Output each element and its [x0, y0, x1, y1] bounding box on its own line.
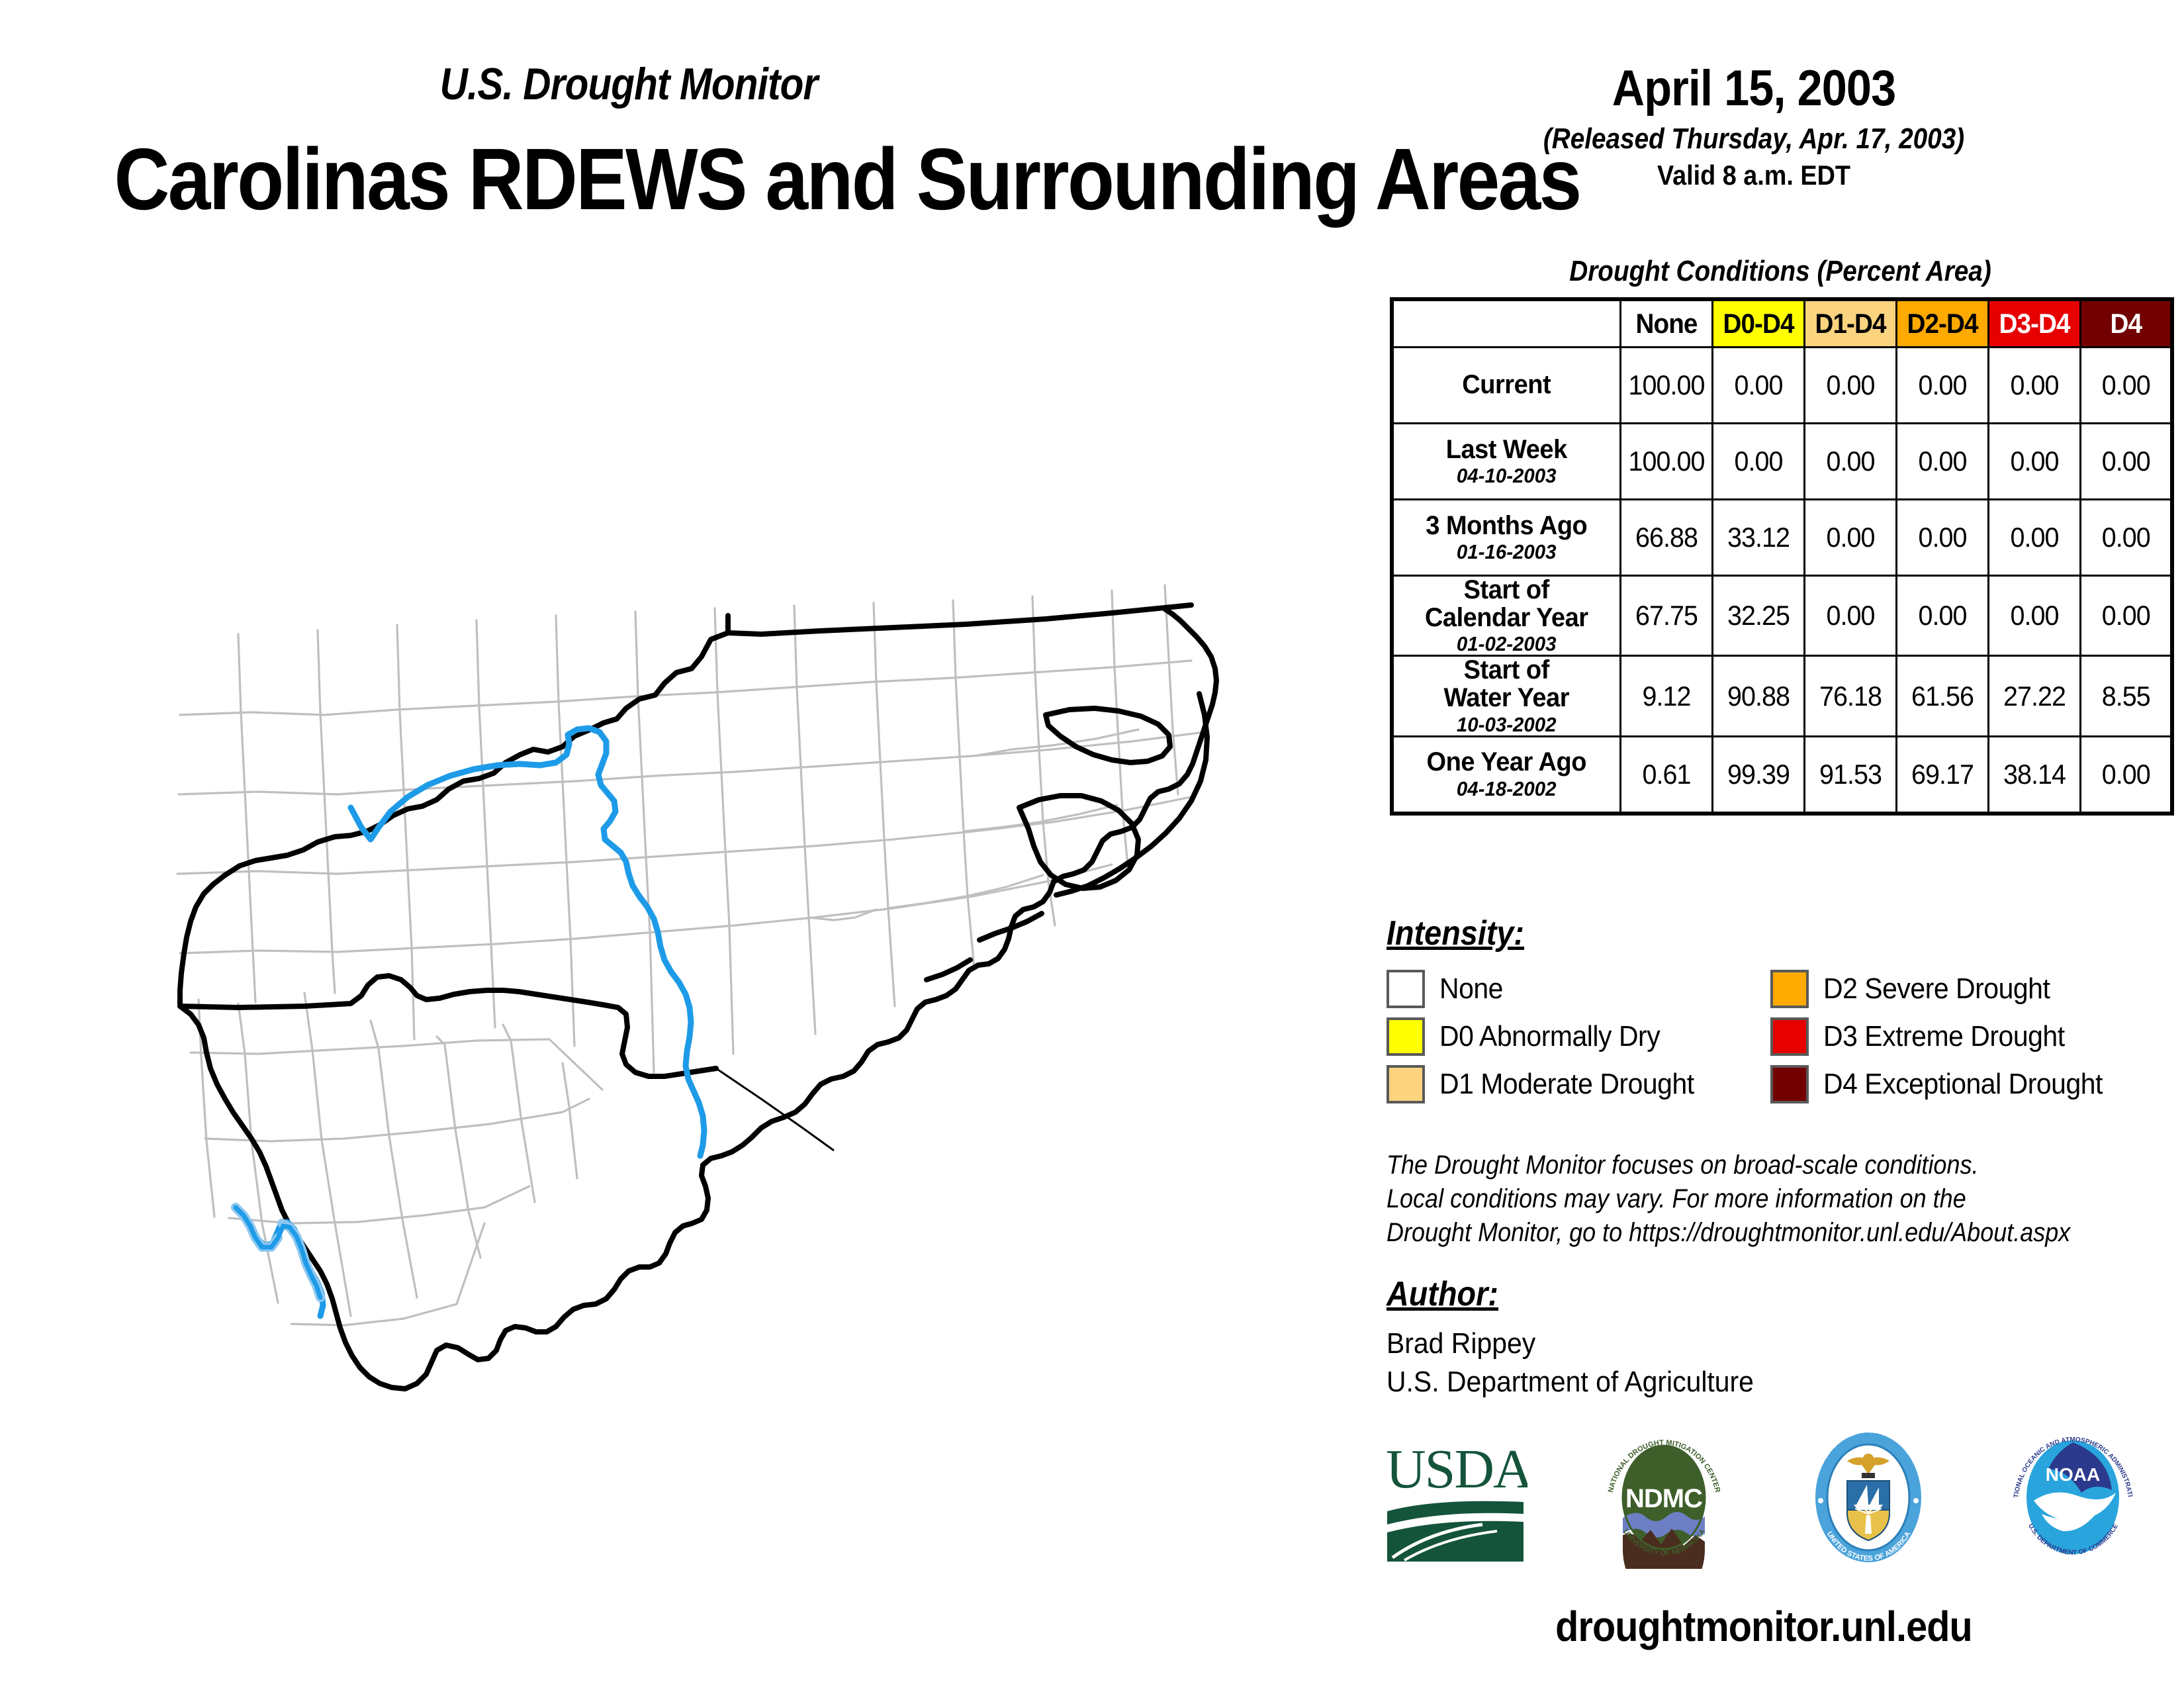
row-label-date: 04-18-2002 [1400, 778, 1614, 800]
author-block: Author: Brad Rippey U.S. Department of A… [1387, 1274, 2181, 1401]
row-label-1: Last Week04-10-2003 [1392, 424, 1620, 500]
cell-d4: 0.00 [2080, 500, 2172, 576]
cell-d4: 8.55 [2080, 656, 2172, 736]
ndmc-logo: NDMC NATIONAL DROUGHT MITIGATION CENTER … [1593, 1427, 1735, 1572]
release-date: (Released Thursday, Apr. 17, 2003) [1521, 122, 1987, 156]
table-body: Current100.000.000.000.000.000.00Last We… [1392, 348, 2172, 814]
legend-label: D1 Moderate Drought [1439, 1068, 1694, 1101]
svg-text:USDA: USDA [1386, 1438, 1527, 1500]
cell-d1d4: 0.00 [1804, 424, 1896, 500]
date-block: April 15, 2003 (Released Thursday, Apr. … [1489, 60, 2019, 191]
legend-label: D0 Abnormally Dry [1439, 1020, 1660, 1053]
cell-d1d4: 0.00 [1804, 348, 1896, 424]
disclaimer-block: The Drought Monitor focuses on broad-sca… [1387, 1149, 2181, 1250]
legend-item-2: D0 Abnormally Dry [1387, 1017, 1770, 1056]
row-label-name: Current [1400, 371, 1614, 399]
cell-d4: 0.00 [2080, 424, 2172, 500]
drought-conditions-table-block: Drought Conditions (Percent Area) None D… [1390, 255, 2171, 816]
cell-d4: 0.00 [2080, 736, 2172, 814]
legend-item-5: D4 Exceptional Drought [1770, 1065, 2181, 1103]
cell-d0d4: 0.00 [1712, 424, 1804, 500]
column-header-d0d4: D0-D4 [1712, 299, 1804, 348]
page-title: Carolinas RDEWS and Surrounding Areas [78, 129, 1615, 229]
valid-time: Valid 8 a.m. EDT [1516, 160, 1992, 191]
legend-swatch-icon [1770, 1017, 1809, 1056]
usda-logo: USDA [1383, 1432, 1527, 1568]
cell-d0d4: 0.00 [1712, 348, 1804, 424]
cell-none: 0.61 [1620, 736, 1712, 814]
disclaimer-line-2: Local conditions may vary. For more info… [1387, 1182, 2101, 1216]
column-header-d3d4: D3-D4 [1988, 299, 2080, 348]
column-header-none: None [1620, 299, 1712, 348]
author-name: Brad Rippey [1387, 1325, 2125, 1363]
legend-item-1: D2 Severe Drought [1770, 970, 2181, 1008]
cell-d3d4: 0.00 [1988, 500, 2080, 576]
row-label-date: 10-03-2002 [1400, 714, 1614, 735]
legend-label: D3 Extreme Drought [1823, 1020, 2065, 1053]
valid-date: April 15, 2003 [1516, 60, 1992, 117]
column-header-d2d4: D2-D4 [1896, 299, 1988, 348]
row-label-line-1: Start of [1400, 657, 1614, 684]
cell-d1d4: 91.53 [1804, 736, 1896, 814]
row-label-3: Start ofCalendar Year01-02-2003 [1392, 576, 1620, 656]
header-spacer [1392, 299, 1620, 348]
disclaimer-line-1: The Drought Monitor focuses on broad-sca… [1387, 1149, 2101, 1182]
legend-item-0: None [1387, 970, 1770, 1008]
svg-text:NOAA: NOAA [2046, 1464, 2100, 1485]
row-label-name: 3 Months Ago [1400, 512, 1614, 540]
logos-block: USDA NDMC NATIONAL DROUGHT MITIGATION CE… [1383, 1427, 2144, 1572]
cell-d4: 0.00 [2080, 348, 2172, 424]
author-organization: U.S. Department of Agriculture [1387, 1363, 2125, 1401]
legend-label: D4 Exceptional Drought [1823, 1068, 2103, 1101]
row-label-date: 04-10-2003 [1400, 465, 1614, 487]
legend-swatch-icon [1770, 1065, 1809, 1103]
row-label-name: One Year Ago [1400, 749, 1614, 776]
row-label-date: 01-02-2003 [1400, 633, 1614, 655]
row-label-line-2: Water Year [1400, 684, 1614, 712]
cell-none: 9.12 [1620, 656, 1712, 736]
table-row: One Year Ago04-18-20020.6199.3991.5369.1… [1392, 736, 2172, 814]
legend-swatch-icon [1770, 970, 1809, 1008]
cell-d0d4: 33.12 [1712, 500, 1804, 576]
legend-swatch-icon [1387, 970, 1425, 1008]
legend-item-4: D1 Moderate Drought [1387, 1065, 1770, 1103]
noaa-logo: NOAA NATIONAL OCEANIC AND ATMOSPHERIC AD… [2002, 1427, 2144, 1572]
cell-d3d4: 0.00 [1988, 348, 2080, 424]
cell-d3d4: 38.14 [1988, 736, 2080, 814]
cell-d2d4: 61.56 [1896, 656, 1988, 736]
page-kicker: U.S. Drought Monitor [88, 58, 1169, 110]
table-row: Start ofWater Year10-03-20029.1290.8876.… [1392, 656, 2172, 736]
table-caption: Drought Conditions (Percent Area) [1437, 255, 2124, 288]
cell-none: 100.00 [1620, 348, 1712, 424]
cell-none: 100.00 [1620, 424, 1712, 500]
cell-d0d4: 32.25 [1712, 576, 1804, 656]
table-row: 3 Months Ago01-16-200366.8833.120.000.00… [1392, 500, 2172, 576]
drought-map [40, 516, 1337, 1509]
row-label-date: 01-16-2003 [1400, 541, 1614, 563]
table-header-row: None D0-D4 D1-D4 D2-D4 D3-D4 D4 [1392, 299, 2172, 348]
author-heading: Author: [1387, 1274, 1498, 1314]
intensity-legend: Intensity: NoneD2 Severe DroughtD0 Abnor… [1387, 914, 2181, 1108]
row-label-name: Last Week [1400, 436, 1614, 464]
intensity-heading: Intensity: [1387, 914, 1524, 953]
cell-d4: 0.00 [2080, 576, 2172, 656]
legend-swatch-icon [1387, 1017, 1425, 1056]
cell-none: 66.88 [1620, 500, 1712, 576]
legend-grid: NoneD2 Severe DroughtD0 Abnormally DryD3… [1387, 965, 2181, 1108]
cell-none: 67.75 [1620, 576, 1712, 656]
cell-d0d4: 90.88 [1712, 656, 1804, 736]
cell-d1d4: 76.18 [1804, 656, 1896, 736]
cell-d2d4: 0.00 [1896, 500, 1988, 576]
row-label-5: One Year Ago04-18-2002 [1392, 736, 1620, 814]
legend-swatch-icon [1387, 1065, 1425, 1103]
row-label-0: Current [1392, 348, 1620, 424]
state-divider-thin [716, 1068, 834, 1150]
row-label-4: Start ofWater Year10-03-2002 [1392, 656, 1620, 736]
disclaimer-line-3: Drought Monitor, go to https://droughtmo… [1387, 1216, 2101, 1250]
cell-d1d4: 0.00 [1804, 500, 1896, 576]
svg-text:NDMC: NDMC [1625, 1484, 1702, 1513]
cell-d2d4: 0.00 [1896, 576, 1988, 656]
column-header-d4: D4 [2080, 299, 2172, 348]
legend-label: None [1439, 972, 1503, 1006]
row-label-2: 3 Months Ago01-16-2003 [1392, 500, 1620, 576]
cell-d2d4: 69.17 [1896, 736, 1988, 814]
cell-d2d4: 0.00 [1896, 424, 1988, 500]
footer-url: droughtmonitor.unl.edu [1422, 1602, 2107, 1651]
row-label-line-2: Calendar Year [1400, 604, 1614, 632]
legend-item-3: D3 Extreme Drought [1770, 1017, 2181, 1056]
cell-d2d4: 0.00 [1896, 348, 1988, 424]
cell-d3d4: 0.00 [1988, 576, 2080, 656]
column-header-d1d4: D1-D4 [1804, 299, 1896, 348]
row-label-line-1: Start of [1400, 577, 1614, 604]
table-row: Last Week04-10-2003100.000.000.000.000.0… [1392, 424, 2172, 500]
cell-d1d4: 0.00 [1804, 576, 1896, 656]
cell-d0d4: 99.39 [1712, 736, 1804, 814]
legend-label: D2 Severe Drought [1823, 972, 2050, 1006]
cell-d3d4: 0.00 [1988, 424, 2080, 500]
doc-logo: DEPARTMENT OF COMMERCE UNITED STATES OF … [1801, 1427, 1936, 1572]
cell-d3d4: 27.22 [1988, 656, 2080, 736]
table-row: Start ofCalendar Year01-02-200367.7532.2… [1392, 576, 2172, 656]
drought-conditions-table: None D0-D4 D1-D4 D2-D4 D3-D4 D4 Current1… [1390, 297, 2174, 816]
table-row: Current100.000.000.000.000.000.00 [1392, 348, 2172, 424]
